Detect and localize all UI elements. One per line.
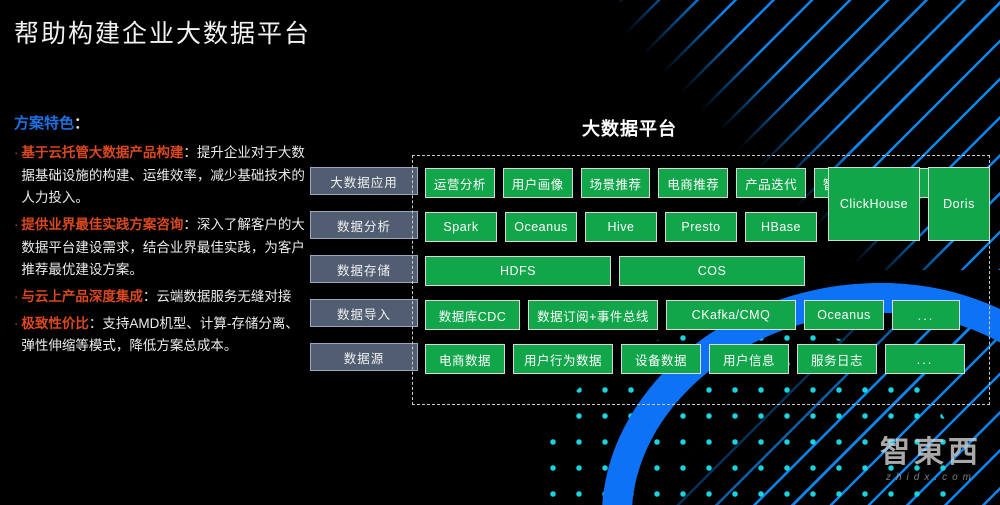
platform-box-item[interactable]: 用户画像 (503, 168, 573, 198)
page-title: 帮助构建企业大数据平台 (14, 14, 311, 50)
feature-item-separator: ： (183, 145, 197, 160)
feature-item-separator: ： (183, 217, 197, 232)
platform-box-item[interactable]: 产品迭代 (736, 168, 806, 198)
platform-box-item[interactable]: 设备数据 (621, 344, 701, 374)
feature-item-separator: ： (143, 289, 157, 304)
feature-item-body: 极致性价比：支持AMD机型、计算-存储分离、弹性伸缩等模式，降低方案总成本。 (21, 313, 306, 358)
platform-box-item[interactable]: ... (885, 344, 965, 374)
solution-features-panel: 方案特色： ·基于云托管大数据产品构建：提升企业对于大数据基础设施的构建、运维效… (14, 112, 306, 362)
category-chip-3[interactable]: 数据导入 (310, 299, 418, 327)
platform-box-item[interactable]: Hive (585, 212, 657, 242)
platform-box-item[interactable]: Oceanus (804, 300, 884, 330)
platform-box-item[interactable]: 场景推荐 (581, 168, 651, 198)
platform-box-item[interactable]: 数据订阅+事件总线 (528, 300, 658, 330)
bullet-icon: · (14, 142, 18, 164)
platform-box-item[interactable]: 运营分析 (425, 168, 495, 198)
category-chip-0[interactable]: 大数据应用 (310, 167, 418, 195)
platform-box-item[interactable]: Presto (665, 212, 737, 242)
feature-item: ·与云上产品深度集成：云端数据服务无缝对接 (14, 286, 306, 309)
watermark-logo-text: 智東西 (880, 438, 982, 468)
feature-item-key: 与云上产品深度集成 (21, 289, 143, 304)
category-chip-1[interactable]: 数据分析 (310, 211, 418, 239)
platform-box-item[interactable]: Oceanus (505, 212, 577, 242)
platform-box-item[interactable]: ... (892, 300, 960, 330)
category-chip-2[interactable]: 数据存储 (310, 255, 418, 283)
platform-box-item[interactable]: 用户行为数据 (513, 344, 613, 374)
watermark-domain-text: zhidx.com (880, 472, 982, 483)
features-heading: 方案特色： (14, 112, 306, 133)
category-chip-4[interactable]: 数据源 (310, 343, 418, 371)
feature-item-text: 云端数据服务无缝对接 (156, 289, 291, 304)
category-label-column: 大数据应用数据分析数据存储数据导入数据源 (310, 167, 418, 387)
feature-item: ·提供业界最佳实践方案咨询：深入了解客户的大数据平台建设需求，结合业界最佳实践，… (14, 214, 306, 282)
big-data-platform-diagram: 大数据平台 大数据应用数据分析数据存储数据导入数据源 运营分析用户画像场景推荐电… (310, 105, 1000, 405)
features-heading-colon: ： (74, 115, 89, 132)
olap-engines-group: ClickHouseDoris (828, 167, 990, 241)
olap-engine-box[interactable]: ClickHouse (828, 167, 920, 241)
olap-engine-box[interactable]: Doris (928, 167, 990, 241)
watermark: 智東西 zhidx.com (880, 438, 982, 483)
platform-box-item[interactable]: 用户信息 (709, 344, 789, 374)
platform-row-data-storage: HDFSCOS (425, 256, 979, 286)
platform-box-item[interactable]: HBase (745, 212, 817, 242)
platform-box-item[interactable]: COS (619, 256, 805, 286)
bullet-icon: · (14, 286, 18, 308)
feature-item-separator: ： (89, 316, 103, 331)
feature-item: ·极致性价比：支持AMD机型、计算-存储分离、弹性伸缩等模式，降低方案总成本。 (14, 313, 306, 358)
feature-item-key: 基于云托管大数据产品构建 (21, 145, 183, 160)
platform-box-item[interactable]: Spark (425, 212, 497, 242)
feature-item-body: 与云上产品深度集成：云端数据服务无缝对接 (21, 286, 306, 309)
feature-item-key: 极致性价比 (21, 316, 89, 331)
diagram-title: 大数据平台 (582, 115, 677, 141)
features-list: ·基于云托管大数据产品构建：提升企业对于大数据基础设施的构建、运维效率，减少基础… (14, 142, 306, 358)
platform-box-item[interactable]: HDFS (425, 256, 611, 286)
feature-item-key: 提供业界最佳实践方案咨询 (21, 217, 183, 232)
platform-box-item[interactable]: 电商数据 (425, 344, 505, 374)
feature-item-body: 提供业界最佳实践方案咨询：深入了解客户的大数据平台建设需求，结合业界最佳实践，为… (21, 214, 306, 282)
bullet-icon: · (14, 214, 18, 236)
platform-box-item[interactable]: 服务日志 (797, 344, 877, 374)
feature-item-body: 基于云托管大数据产品构建：提升企业对于大数据基础设施的构建、运维效率，减少基础技… (21, 142, 306, 210)
platform-row-data-ingestion: 数据库CDC数据订阅+事件总线CKafka/CMQOceanus... (425, 300, 979, 330)
platform-box-item[interactable]: CKafka/CMQ (666, 300, 796, 330)
platform-box-item[interactable]: 电商推荐 (658, 168, 728, 198)
platform-row-data-source: 电商数据用户行为数据设备数据用户信息服务日志... (425, 344, 979, 374)
feature-item: ·基于云托管大数据产品构建：提升企业对于大数据基础设施的构建、运维效率，减少基础… (14, 142, 306, 210)
features-heading-text: 方案特色 (14, 115, 74, 132)
platform-box-item[interactable]: 数据库CDC (425, 300, 520, 330)
bullet-icon: · (14, 313, 18, 335)
